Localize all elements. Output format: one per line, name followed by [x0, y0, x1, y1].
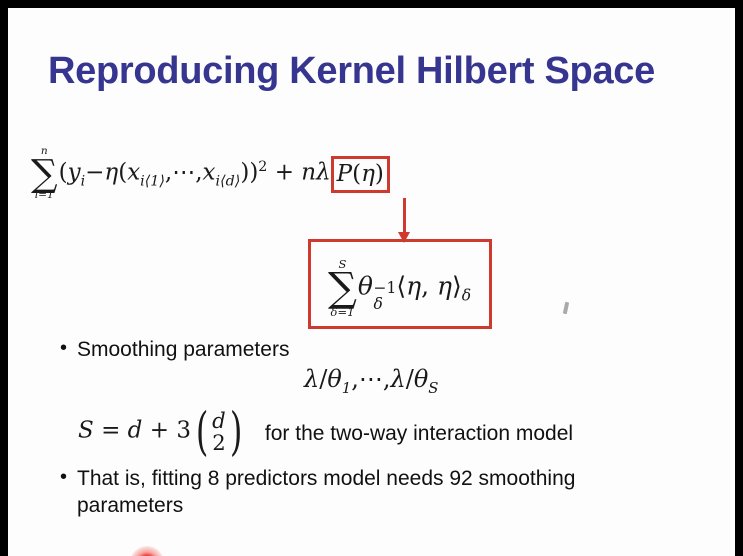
- equals-sign: =: [94, 418, 128, 444]
- ellipsis-2: ⋯: [359, 365, 383, 393]
- sum-lower-limit: i=1: [35, 190, 54, 201]
- ellipsis-1: ⋯: [172, 160, 195, 186]
- eta-open-paren: (: [118, 160, 127, 186]
- binom-bottom: 2: [212, 432, 225, 454]
- plus-glyph-2: +: [150, 418, 169, 444]
- smoothing-comma-2: ,: [383, 365, 391, 393]
- equals-glyph: =: [101, 418, 120, 444]
- inner-product-open: ⟨: [396, 272, 406, 301]
- p-eta-highlight-box: P(η): [331, 156, 390, 193]
- summation-operator-penalty: S ∑ δ=1: [328, 258, 357, 318]
- theta-S-subscript: S: [428, 379, 438, 397]
- theta-subscript: δ: [373, 297, 396, 313]
- presentation-video-frame: Reproducing Kernel Hilbert Space n ∑ i=1…: [0, 0, 743, 556]
- sigma-icon: ∑: [328, 269, 357, 306]
- plus-glyph: +: [275, 160, 294, 186]
- binom-top: d: [212, 410, 226, 432]
- lambda-1: λ: [304, 365, 319, 393]
- theta-symbol: θ: [358, 272, 373, 301]
- cursor-artifact: [563, 302, 569, 315]
- s-count-equation: S = d + 3(d2): [78, 410, 247, 453]
- lambda-S: λ: [391, 365, 406, 393]
- s-formula-caption: for the two-way interaction model: [265, 422, 573, 446]
- coefficient-3: 3: [176, 418, 191, 444]
- square-exponent: 2: [258, 159, 267, 175]
- smoothing-comma-1: ,: [351, 365, 359, 393]
- eta-right: η: [429, 272, 452, 301]
- bullet-text-predictors: That is, fitting 8 predictors model need…: [77, 465, 685, 519]
- eta-right-glyph: η: [437, 272, 452, 301]
- inner-product-subscript: δ: [462, 287, 471, 305]
- binom-right-paren: ): [230, 416, 243, 448]
- slide-canvas: Reproducing Kernel Hilbert Space n ∑ i=1…: [8, 8, 735, 556]
- d-symbol: d: [128, 418, 143, 444]
- summation-operator-main: n ∑ i=1: [31, 146, 58, 201]
- penalty-symbol-P: P: [337, 161, 352, 187]
- eta-left: η: [406, 272, 421, 301]
- theta-1: θ: [327, 365, 341, 393]
- x-variable-first: x: [127, 160, 140, 186]
- bullet-marker-icon: •: [60, 336, 77, 361]
- s-formula-row: S = d + 3(d2) for the two-way interactio…: [78, 410, 573, 453]
- connector-arrow-shaft: [403, 198, 406, 236]
- binom-left-paren: (: [196, 416, 209, 448]
- list-item: • That is, fitting 8 predictors model ne…: [60, 465, 685, 519]
- eta-function: η: [104, 160, 118, 186]
- n-lambda-factor: nλ: [301, 160, 330, 186]
- comma-2: ,: [195, 160, 202, 186]
- list-item: • Smoothing parameters: [60, 336, 660, 363]
- sigma-icon: ∑: [31, 156, 58, 190]
- x-variable-last: x: [203, 160, 216, 186]
- page-title: Reproducing Kernel Hilbert Space: [48, 50, 708, 93]
- penalty-expansion-box: S ∑ δ=1 θ−1δ⟨η, η⟩δ: [308, 239, 492, 329]
- slash-2: /: [406, 365, 414, 393]
- y-variable: y: [68, 160, 81, 186]
- bullet-text-smoothing: Smoothing parameters: [77, 336, 289, 363]
- smoothing-parameters-equation: λ/θ1,⋯,λ/θS: [304, 365, 438, 393]
- theta-1-subscript: 1: [342, 379, 351, 397]
- penalty-sum-lower-limit: δ=1: [331, 306, 355, 318]
- laser-pointer-dot: [130, 546, 164, 556]
- plus-sign-2: +: [142, 418, 176, 444]
- bullet-marker-icon: •: [60, 465, 77, 490]
- open-paren: (: [59, 160, 68, 186]
- theta-sub-superscript: −1δ: [373, 281, 396, 313]
- inner-comma: ,: [421, 272, 429, 301]
- S-symbol: S: [78, 418, 94, 444]
- theta-S: θ: [414, 365, 428, 393]
- binomial-coefficient: (d2): [192, 410, 246, 453]
- minus-operator: −: [85, 160, 104, 186]
- penalty-expansion-equation: S ∑ δ=1 θ−1δ⟨η, η⟩δ: [327, 258, 471, 318]
- x-subscript-last: i⟨d⟩: [216, 173, 241, 189]
- p-close-paren: ): [375, 161, 384, 187]
- close-parens: )): [240, 160, 258, 186]
- x-subscript-first: i⟨1⟩: [140, 173, 165, 189]
- plus-operator: +: [267, 160, 301, 186]
- inner-product-close: ⟩: [452, 272, 462, 301]
- main-objective-equation: n ∑ i=1 (yi−η(xi⟨1⟩,⋯,xi⟨d⟩))2 + nλP(η): [30, 146, 390, 201]
- binom-stack: d2: [212, 410, 226, 453]
- p-eta-argument: η: [361, 161, 375, 187]
- p-open-paren: (: [352, 161, 361, 187]
